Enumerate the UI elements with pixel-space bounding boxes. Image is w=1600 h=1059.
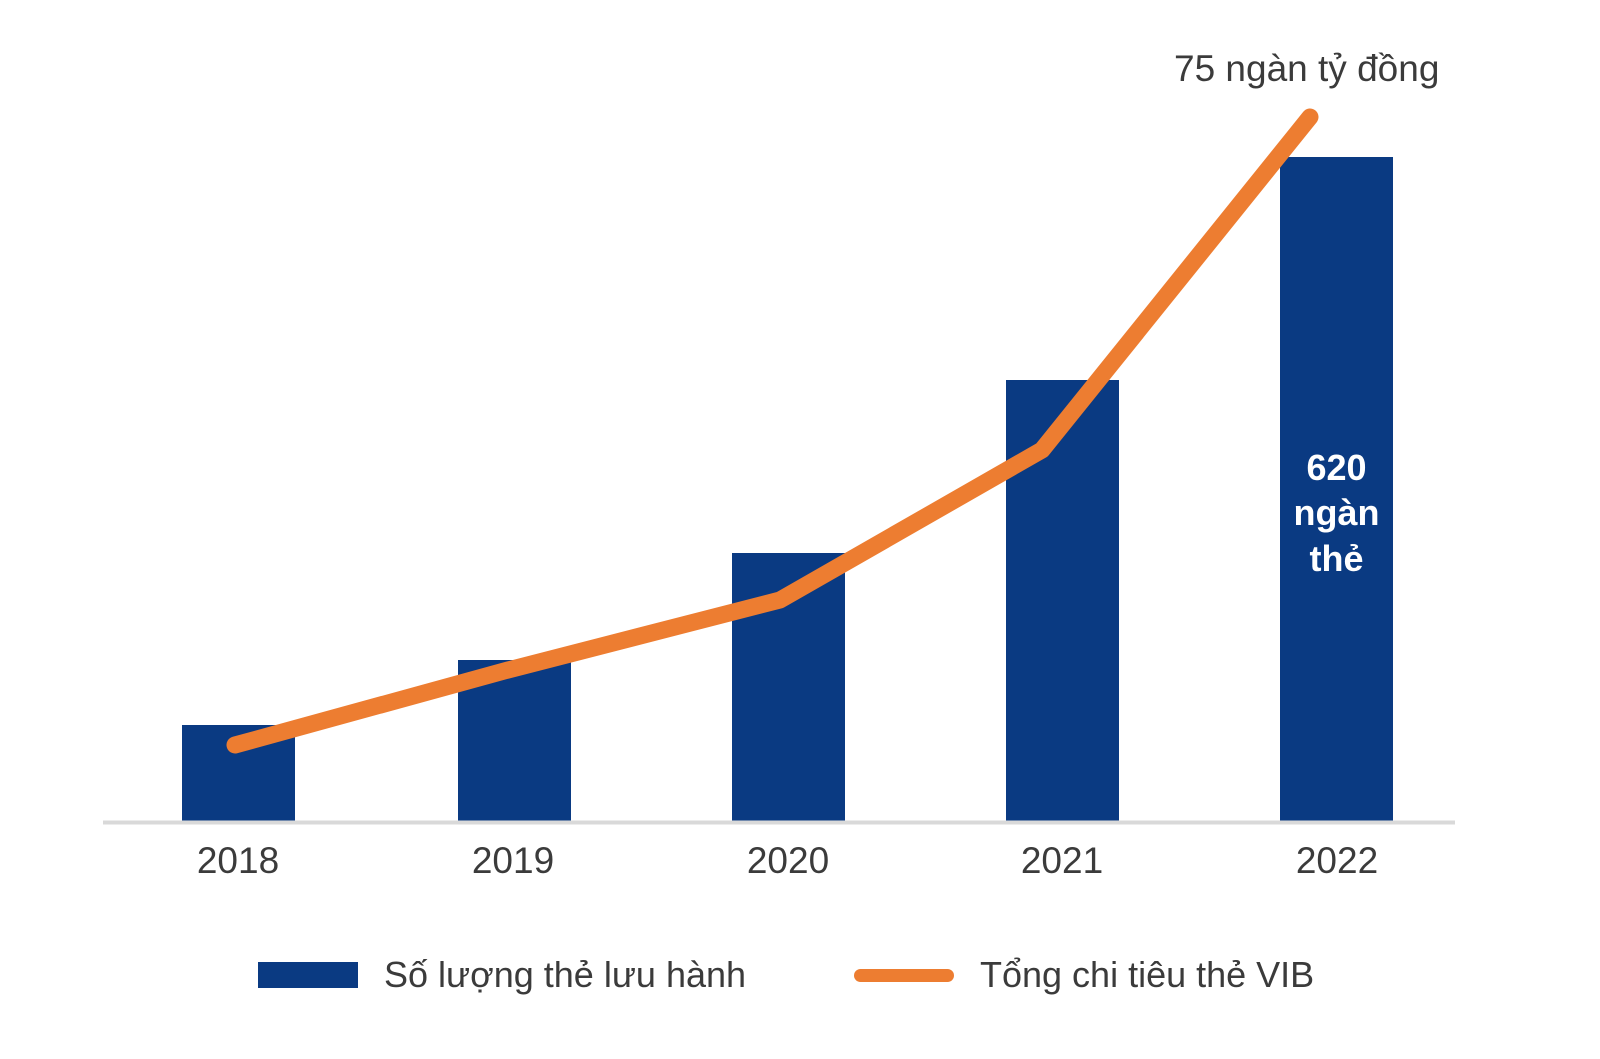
chart-legend: Số lượng thẻ lưu hành Tổng chi tiêu thẻ … [0,930,1600,1010]
x-tick-2022: 2022 [1296,840,1378,882]
legend-line-swatch-icon [854,969,954,982]
x-tick-2019: 2019 [472,840,554,882]
legend-item-spend[interactable]: Tổng chi tiêu thẻ VIB [854,952,1314,998]
legend-bar-swatch-icon [258,962,358,988]
line-endpoint-annotation: 75 ngàn tỷ đồng [1174,48,1439,90]
legend-item-cards[interactable]: Số lượng thẻ lưu hành [258,952,746,998]
bar-2021[interactable] [1006,380,1119,822]
chart-container: 75 ngàn tỷ đồng 620 ngàn thẻ 2018 2019 2… [0,0,1600,1059]
plot-area: 75 ngàn tỷ đồng 620 ngàn thẻ 2018 2019 2… [0,0,1600,1059]
x-tick-2021: 2021 [1021,840,1103,882]
legend-label-spend: Tổng chi tiêu thẻ VIB [980,954,1314,996]
bar-series [182,157,1393,822]
bar-2022-value-label: 620 ngàn thẻ [1280,445,1393,581]
x-tick-2018: 2018 [197,840,279,882]
legend-label-cards: Số lượng thẻ lưu hành [384,954,746,996]
x-tick-2020: 2020 [747,840,829,882]
